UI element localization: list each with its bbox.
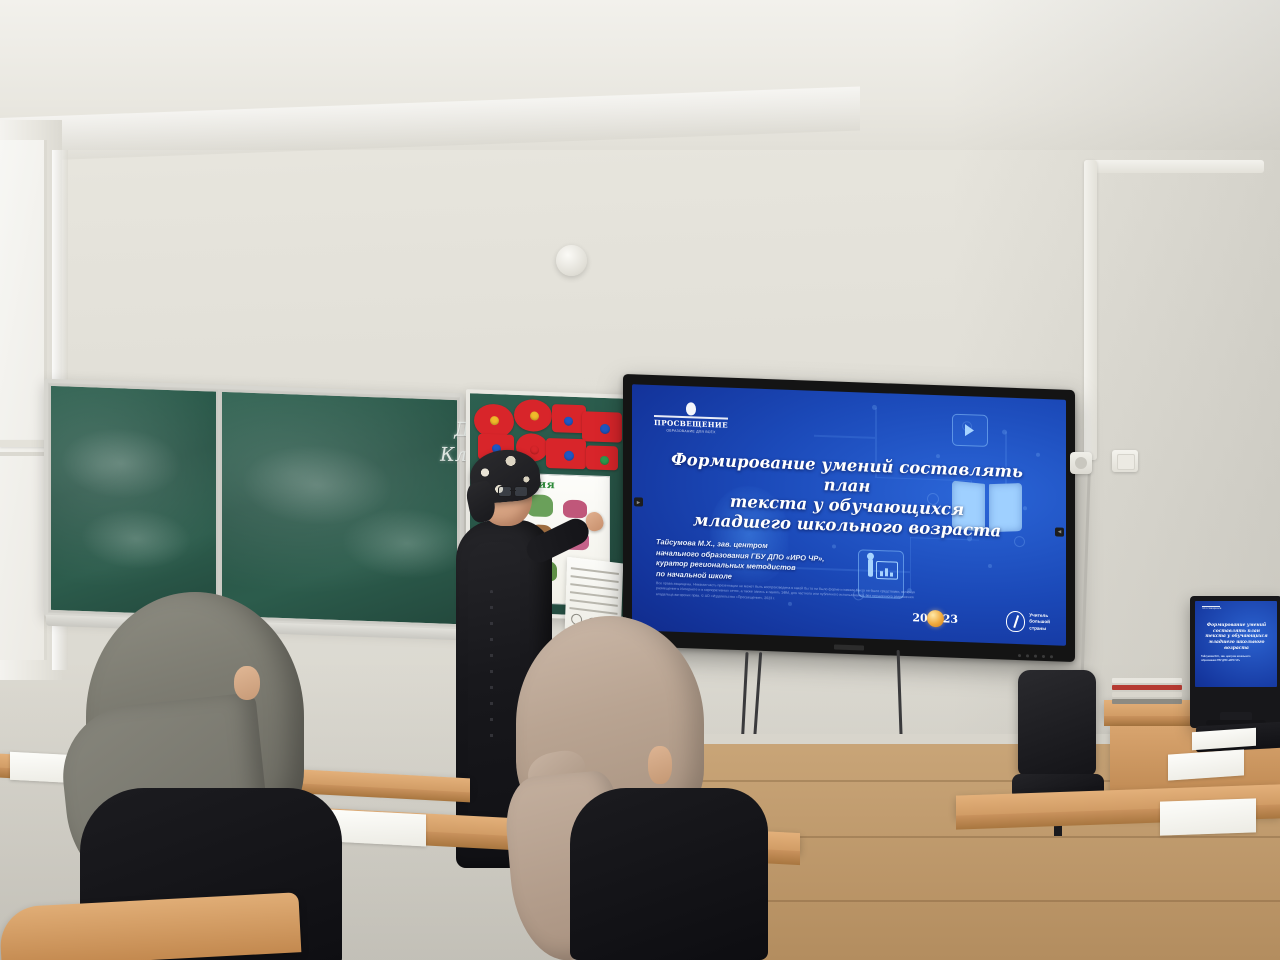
globe-icon xyxy=(927,610,944,628)
monitor-frame: ПРОСВЕЩЕНИЕ Формирование умений составля… xyxy=(1190,596,1280,728)
panel-indicator-leds xyxy=(1018,654,1053,658)
attendee-2-body xyxy=(570,788,768,960)
video-play-icon xyxy=(952,414,988,447)
cable-trunking-vertical xyxy=(1084,160,1097,460)
attendee-2-neck xyxy=(648,746,672,784)
slide-title: Формирование умений составлять план текс… xyxy=(656,449,1038,543)
window-frame xyxy=(0,140,47,660)
badge-teacher-line-3: страны xyxy=(1029,625,1046,631)
student-paper xyxy=(1160,798,1256,835)
year-2023-badge: 20 23 xyxy=(912,609,958,628)
chair-backrest xyxy=(1018,670,1096,776)
panel-brand-mark xyxy=(834,644,864,650)
desktop-monitor[interactable]: ПРОСВЕЩЕНИЕ Формирование умений составля… xyxy=(1190,596,1280,728)
book-stack xyxy=(1112,678,1182,708)
monitor-slide-credits: Тайсумова М.Х., зав. центром начального … xyxy=(1201,655,1263,662)
logo-mark-icon xyxy=(686,402,696,415)
light-switch[interactable] xyxy=(1112,450,1138,472)
slide-credits: Тайсумова М.Х., зав. центром начального … xyxy=(656,537,886,588)
emblem-icon xyxy=(1006,611,1025,633)
desk-paper xyxy=(1168,749,1244,780)
decoration-dot xyxy=(600,456,609,465)
prosveshchenie-logo: ПРОСВЕЩЕНИЕ ОБРАЗОВАНИЕ ДЛЯ ВСЕХ xyxy=(654,401,728,434)
chalkboard-panel-right: Двадцатое марта. Классная работа. xyxy=(220,390,459,626)
badge-teacher-text: Учитель большой страны xyxy=(1029,613,1050,632)
monitor-title-line-3: младшего школьного возраста xyxy=(1201,640,1272,651)
monitor-title-line-1: Формирование умений составлять план xyxy=(1201,623,1272,634)
decoration-dot xyxy=(490,416,499,425)
decoration-dot xyxy=(564,417,573,426)
presenter-glasses-icon xyxy=(498,486,528,496)
monitor-logo-name: ПРОСВЕЩЕНИЕ xyxy=(1202,608,1220,610)
decoration-dot xyxy=(530,411,539,420)
classroom-photo: Двадцатое марта. Классная работа. Растен… xyxy=(0,0,1280,960)
monitor-slide-title: Формирование умений составлять план текс… xyxy=(1201,623,1272,652)
cable-trunking-horizontal xyxy=(1084,160,1264,173)
badge-teacher-line-2: большой xyxy=(1029,619,1050,625)
smoke-detector-icon xyxy=(556,245,587,276)
window-rail-lower xyxy=(0,452,46,456)
monitor-screen[interactable]: ПРОСВЕЩЕНИЕ Формирование умений составля… xyxy=(1195,601,1277,687)
attendee-1-face xyxy=(234,666,260,700)
panel-left-arrow-icon[interactable]: ▸ xyxy=(634,497,643,506)
year-badge-suffix: 23 xyxy=(943,612,958,626)
monitor-logo: ПРОСВЕЩЕНИЕ xyxy=(1202,606,1220,612)
chalkboard-panel-left xyxy=(49,384,218,618)
presenter-arm xyxy=(522,514,593,566)
power-outlet[interactable] xyxy=(1070,452,1092,474)
decoration-dot xyxy=(600,424,610,434)
badge-teacher-line-1: Учитель xyxy=(1029,613,1048,619)
teacher-of-big-country-badge: Учитель большой страны xyxy=(1006,611,1050,634)
panel-right-arrow-icon[interactable]: ◂ xyxy=(1055,527,1064,536)
presentation-slide[interactable]: ПРОСВЕЩЕНИЕ ОБРАЗОВАНИЕ ДЛЯ ВСЕХ Формиро… xyxy=(632,384,1066,646)
year-badge-prefix: 20 xyxy=(912,611,927,625)
attendee-person-2 xyxy=(488,616,768,960)
